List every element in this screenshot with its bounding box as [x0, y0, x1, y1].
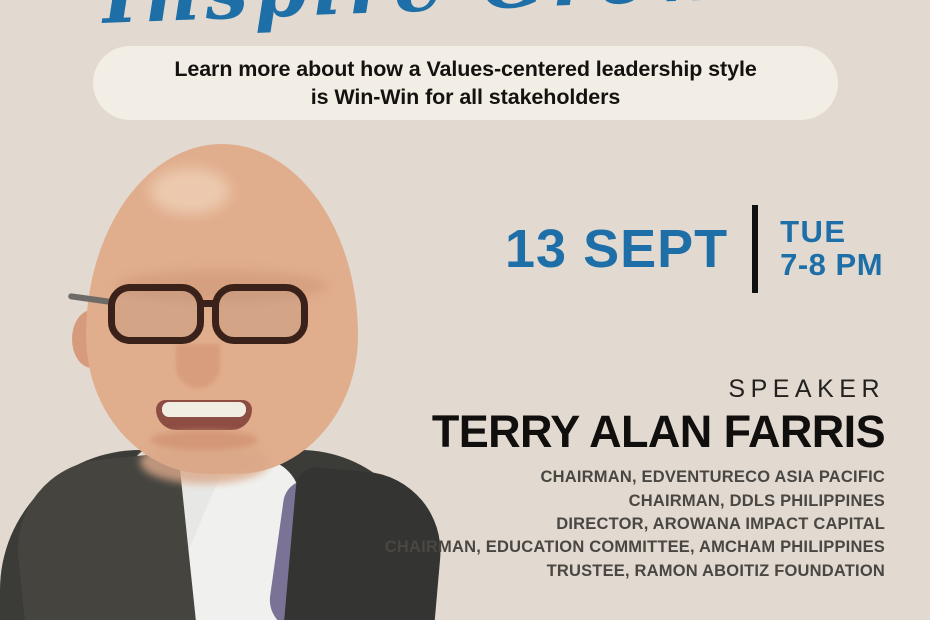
- speaker-credentials: CHAIRMAN, EDVENTURECO ASIA PACIFIC CHAIR…: [265, 466, 885, 583]
- photo-head-highlight: [150, 168, 230, 214]
- event-weekday: TUE: [780, 216, 883, 249]
- date-divider: [752, 205, 758, 293]
- speaker-name: TERRY ALAN FARRIS: [265, 408, 885, 457]
- credential-line: DIRECTOR, AROWANA IMPACT CAPITAL: [265, 513, 885, 536]
- script-headline-strip: Inspire Growth: [0, 0, 930, 38]
- credential-line: CHAIRMAN, EDVENTURECO ASIA PACIFIC: [265, 466, 885, 489]
- credential-line: CHAIRMAN, EDUCATION COMMITTEE, AMCHAM PH…: [265, 536, 885, 559]
- subtitle-line-1: Learn more about how a Values-centered l…: [174, 57, 756, 81]
- event-date-block: 13 SEPT TUE 7-8 PM: [505, 205, 883, 293]
- subtitle-text: Learn more about how a Values-centered l…: [148, 55, 782, 112]
- photo-mouth: [156, 400, 252, 430]
- photo-glasses-bridge: [202, 300, 216, 307]
- photo-glasses-lens-left: [108, 284, 204, 344]
- event-time: 7-8 PM: [780, 249, 883, 282]
- speaker-label: SPEAKER: [265, 376, 885, 404]
- photo-glasses-lens-right: [212, 284, 308, 344]
- event-date: 13 SEPT: [505, 222, 728, 276]
- credential-line: TRUSTEE, RAMON ABOITIZ FOUNDATION: [265, 560, 885, 583]
- speaker-block: SPEAKER TERRY ALAN FARRIS CHAIRMAN, EDVE…: [265, 376, 885, 583]
- event-poster: Inspire Growth Learn more about how a Va…: [0, 0, 930, 620]
- photo-nose: [176, 344, 220, 388]
- script-headline: Inspire Growth: [0, 0, 930, 38]
- event-daytime-block: TUE 7-8 PM: [780, 216, 883, 282]
- photo-lower-lip: [150, 430, 258, 450]
- credential-line: CHAIRMAN, DDLS PHILIPPINES: [265, 490, 885, 513]
- subtitle-line-2: is Win-Win for all stakeholders: [311, 85, 621, 109]
- photo-teeth: [162, 402, 246, 417]
- subtitle-pill: Learn more about how a Values-centered l…: [93, 46, 838, 120]
